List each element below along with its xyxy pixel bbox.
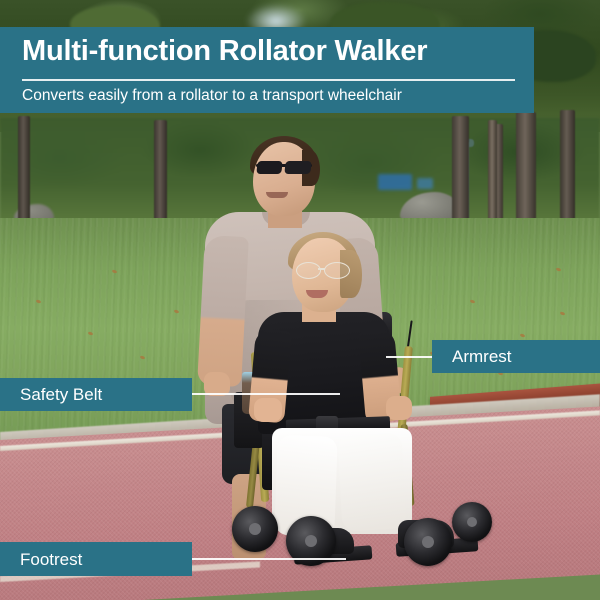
callout-armrest-label: Armrest xyxy=(452,348,512,365)
page-subtitle: Converts easily from a rollator to a tra… xyxy=(22,86,522,106)
wheel-front-right xyxy=(404,518,452,566)
man-mouth xyxy=(266,192,288,198)
wheel-rear-left xyxy=(232,506,278,552)
woman-hand-right xyxy=(386,396,412,420)
product-marketing-image: Multi-function Rollator Walker Converts … xyxy=(0,0,600,600)
woman-hand-left xyxy=(254,398,282,422)
eyeglasses-icon xyxy=(296,262,350,277)
callout-safety-belt-label: Safety Belt xyxy=(20,386,102,403)
sunglasses-icon xyxy=(256,160,312,175)
wheel-rear-right xyxy=(452,502,492,542)
callout-leader-safety-belt xyxy=(172,393,340,395)
banner-divider xyxy=(22,79,515,81)
distant-structure xyxy=(417,178,433,189)
page-title: Multi-function Rollator Walker xyxy=(22,34,522,68)
callout-footrest-label: Footrest xyxy=(20,551,82,568)
tree-trunk xyxy=(18,116,30,234)
callout-safety-belt: Safety Belt xyxy=(0,378,192,411)
callout-leader-footrest xyxy=(172,558,346,560)
woman-leg-right xyxy=(338,432,407,531)
callout-armrest: Armrest xyxy=(432,340,600,373)
callout-leader-armrest xyxy=(386,356,434,358)
distant-structure xyxy=(378,174,412,190)
callout-footrest: Footrest xyxy=(0,542,192,576)
man-arm-left xyxy=(197,235,249,387)
